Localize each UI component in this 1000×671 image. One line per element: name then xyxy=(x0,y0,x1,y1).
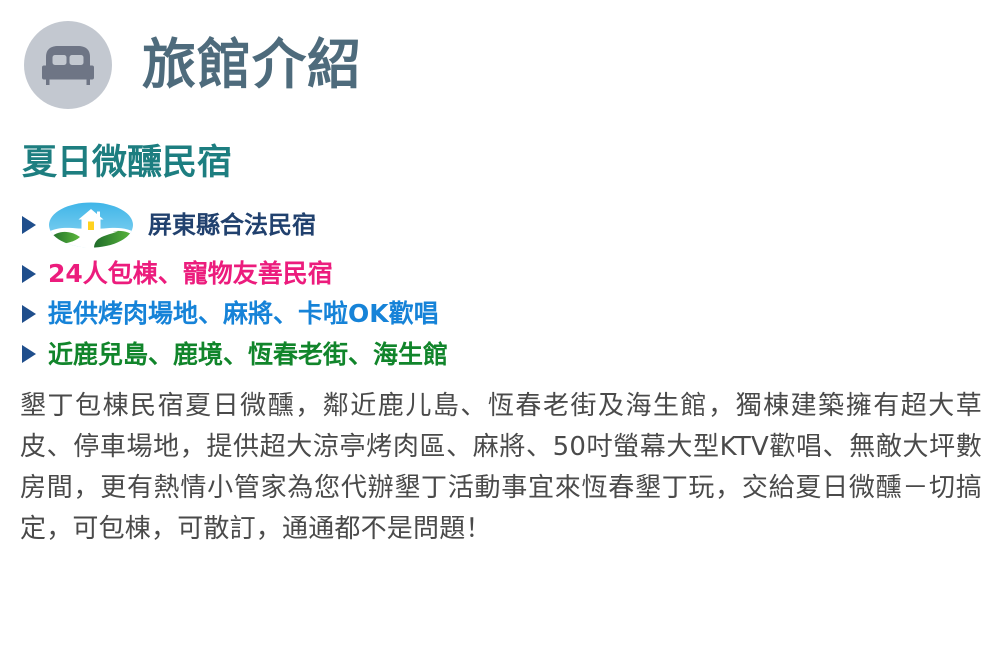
list-item-capacity: 24人包棟、寵物友善民宿 xyxy=(22,258,982,289)
bed-icon xyxy=(24,21,112,109)
list-item-label: 近鹿兒島、鹿境、恆春老街、海生館 xyxy=(48,339,448,370)
list-item-attractions: 近鹿兒島、鹿境、恆春老街、海生館 xyxy=(22,339,982,370)
section-header: 旅館介紹 xyxy=(18,0,982,130)
triangle-right-icon xyxy=(22,265,36,283)
page-title: 旅館介紹 xyxy=(142,38,362,92)
hotel-introduction-page: 旅館介紹 夏日微醺民宿 xyxy=(0,0,1000,671)
hotel-name: 夏日微醺民宿 xyxy=(22,142,982,184)
list-item-label: 提供烤肉場地、麻將、卡啦OK歡唱 xyxy=(48,298,439,329)
list-item-amenities: 提供烤肉場地、麻將、卡啦OK歡唱 xyxy=(22,298,982,329)
pingtung-legal-bnb-logo-icon xyxy=(48,202,134,248)
triangle-right-icon xyxy=(22,345,36,363)
description-paragraph: 墾丁包棟民宿夏日微醺，鄰近鹿儿島、恆春老街及海生館，獨棟建築擁有超大草皮、停車場… xyxy=(20,386,982,550)
list-item-label: 24人包棟、寵物友善民宿 xyxy=(48,258,333,289)
list-item-certified: 屏東縣合法民宿 xyxy=(22,202,982,248)
triangle-right-icon xyxy=(22,305,36,323)
feature-list: 屏東縣合法民宿 24人包棟、寵物友善民宿 提供烤肉場地、麻將、卡啦OK歡唱 近鹿… xyxy=(18,202,982,370)
list-item-label: 屏東縣合法民宿 xyxy=(148,210,316,240)
triangle-right-icon xyxy=(22,216,36,234)
